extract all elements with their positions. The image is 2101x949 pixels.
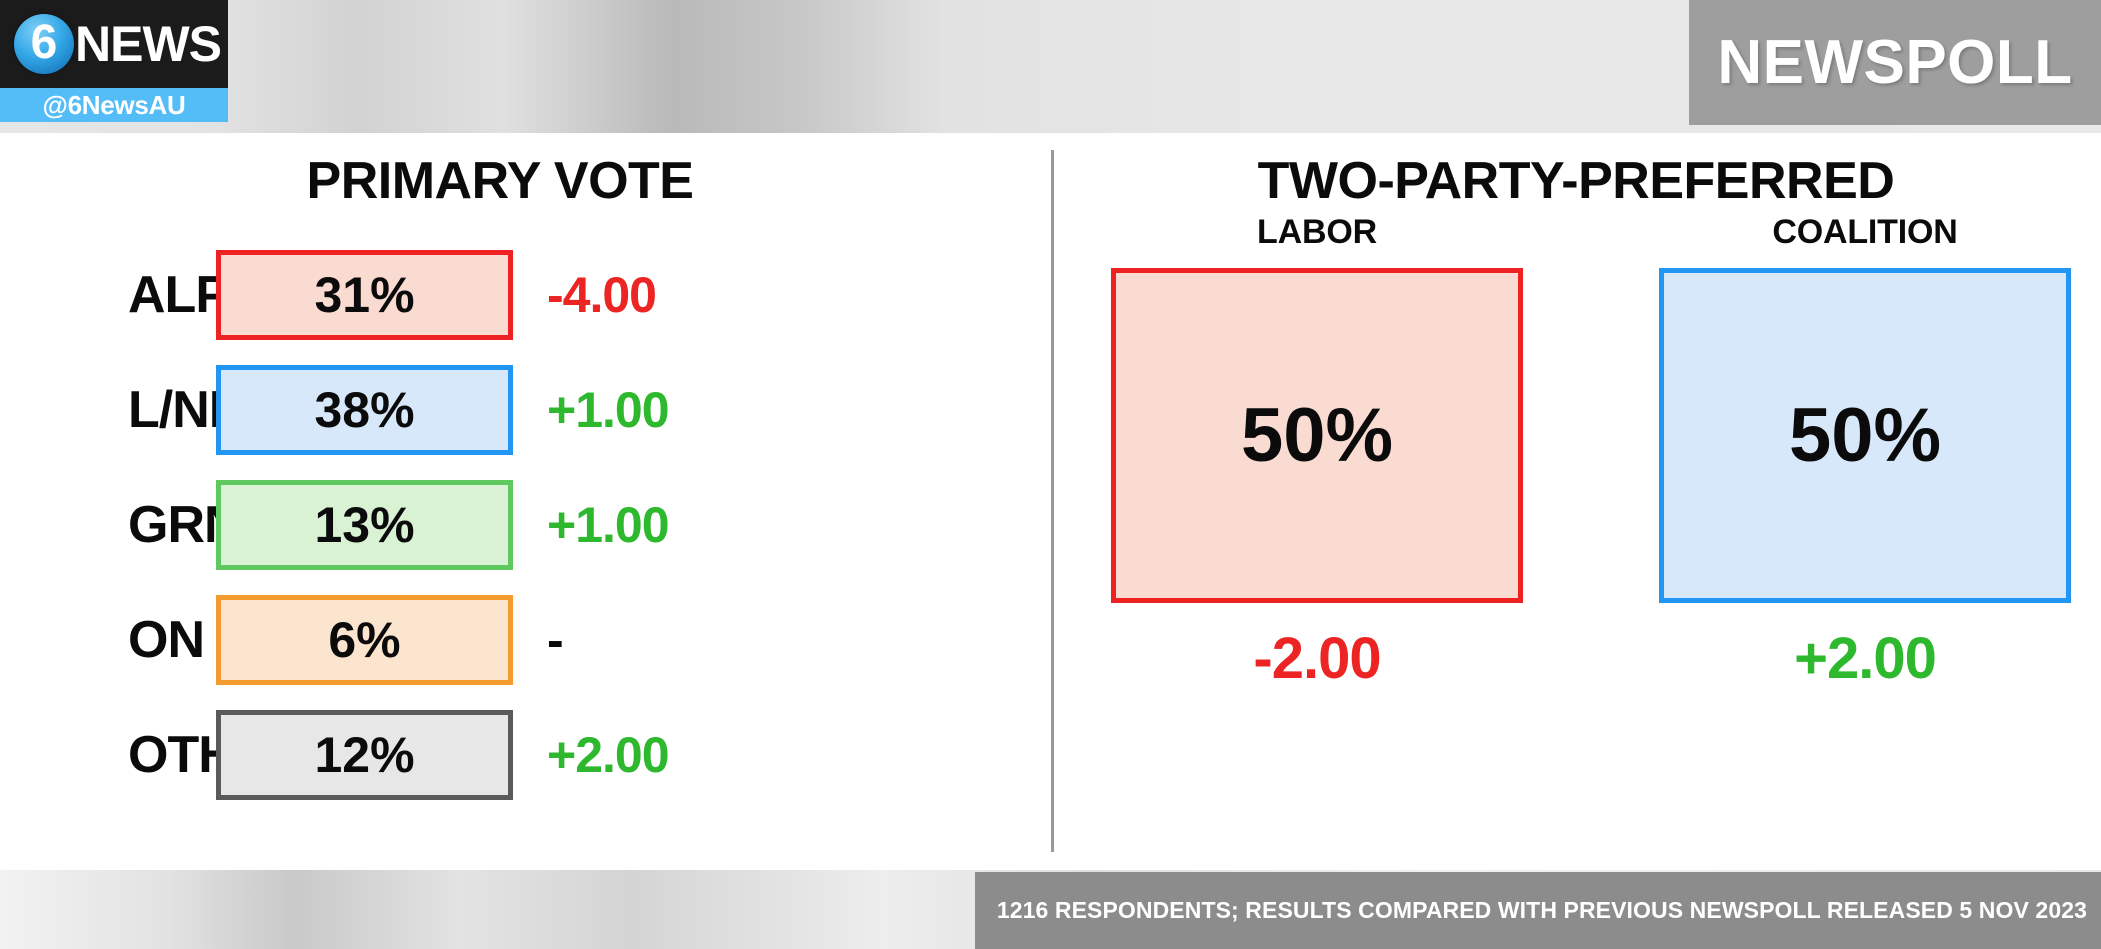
party-vote-change: -4.00	[547, 266, 656, 324]
party-label: ALP	[0, 265, 210, 325]
tpp-column-label: COALITION	[1772, 213, 1957, 252]
two-party-preferred-columns: LABOR50%-2.00COALITION50%+2.00	[1111, 213, 2071, 692]
party-vote-change: +2.00	[547, 726, 669, 784]
primary-vote-title: PRIMARY VOTE	[0, 151, 1000, 211]
primary-vote-row: OTH12%+2.00	[0, 697, 1051, 812]
tpp-value-box: 50%	[1659, 268, 2071, 603]
party-label: OTH	[0, 725, 210, 785]
party-vote-change: +1.00	[547, 381, 669, 439]
footer-note: 1216 RESPONDENTS; RESULTS COMPARED WITH …	[975, 872, 2101, 949]
tpp-column: COALITION50%+2.00	[1659, 213, 2071, 692]
primary-vote-row: ON6%-	[0, 582, 1051, 697]
party-vote-box: 12%	[216, 710, 513, 800]
newspoll-graphic: 6 NEWS @6NewsAU NEWSPOLL PRIMARY VOTE AL…	[0, 0, 2101, 949]
two-party-preferred-panel: TWO-PARTY-PREFERRED LABOR50%-2.00COALITI…	[1051, 133, 2101, 870]
primary-vote-rows: ALP31%-4.00L/NP38%+1.00GRN13%+1.00ON6%-O…	[0, 237, 1051, 812]
party-vote-change: +1.00	[547, 496, 669, 554]
primary-vote-row: L/NP38%+1.00	[0, 352, 1051, 467]
logo-news-text: NEWS	[75, 19, 221, 69]
tpp-change: +2.00	[1794, 625, 1936, 692]
header-band: 6 NEWS @6NewsAU NEWSPOLL	[0, 0, 2101, 133]
primary-vote-panel: PRIMARY VOTE ALP31%-4.00L/NP38%+1.00GRN1…	[0, 133, 1051, 870]
party-vote-box: 31%	[216, 250, 513, 340]
social-handle: @6NewsAU	[0, 88, 228, 122]
tpp-change: -2.00	[1253, 625, 1380, 692]
newspoll-badge: NEWSPOLL	[1689, 0, 2101, 125]
channel-logo: 6 NEWS @6NewsAU	[0, 0, 228, 122]
tpp-column-label: LABOR	[1257, 213, 1377, 252]
party-label: GRN	[0, 495, 210, 555]
party-label: ON	[0, 610, 210, 670]
tpp-value-box: 50%	[1111, 268, 1523, 603]
party-vote-box: 6%	[216, 595, 513, 685]
two-party-preferred-title: TWO-PARTY-PREFERRED	[1051, 151, 2101, 211]
six-circle-icon: 6	[14, 14, 74, 74]
primary-vote-row: GRN13%+1.00	[0, 467, 1051, 582]
primary-vote-row: ALP31%-4.00	[0, 237, 1051, 352]
logo-six-glyph: 6	[31, 19, 58, 67]
main-content: PRIMARY VOTE ALP31%-4.00L/NP38%+1.00GRN1…	[0, 133, 2101, 870]
tpp-column: LABOR50%-2.00	[1111, 213, 1523, 692]
party-vote-box: 38%	[216, 365, 513, 455]
logo-wordmark: 6 NEWS	[0, 0, 228, 88]
party-label: L/NP	[0, 380, 210, 440]
party-vote-box: 13%	[216, 480, 513, 570]
party-vote-change: -	[547, 611, 563, 669]
